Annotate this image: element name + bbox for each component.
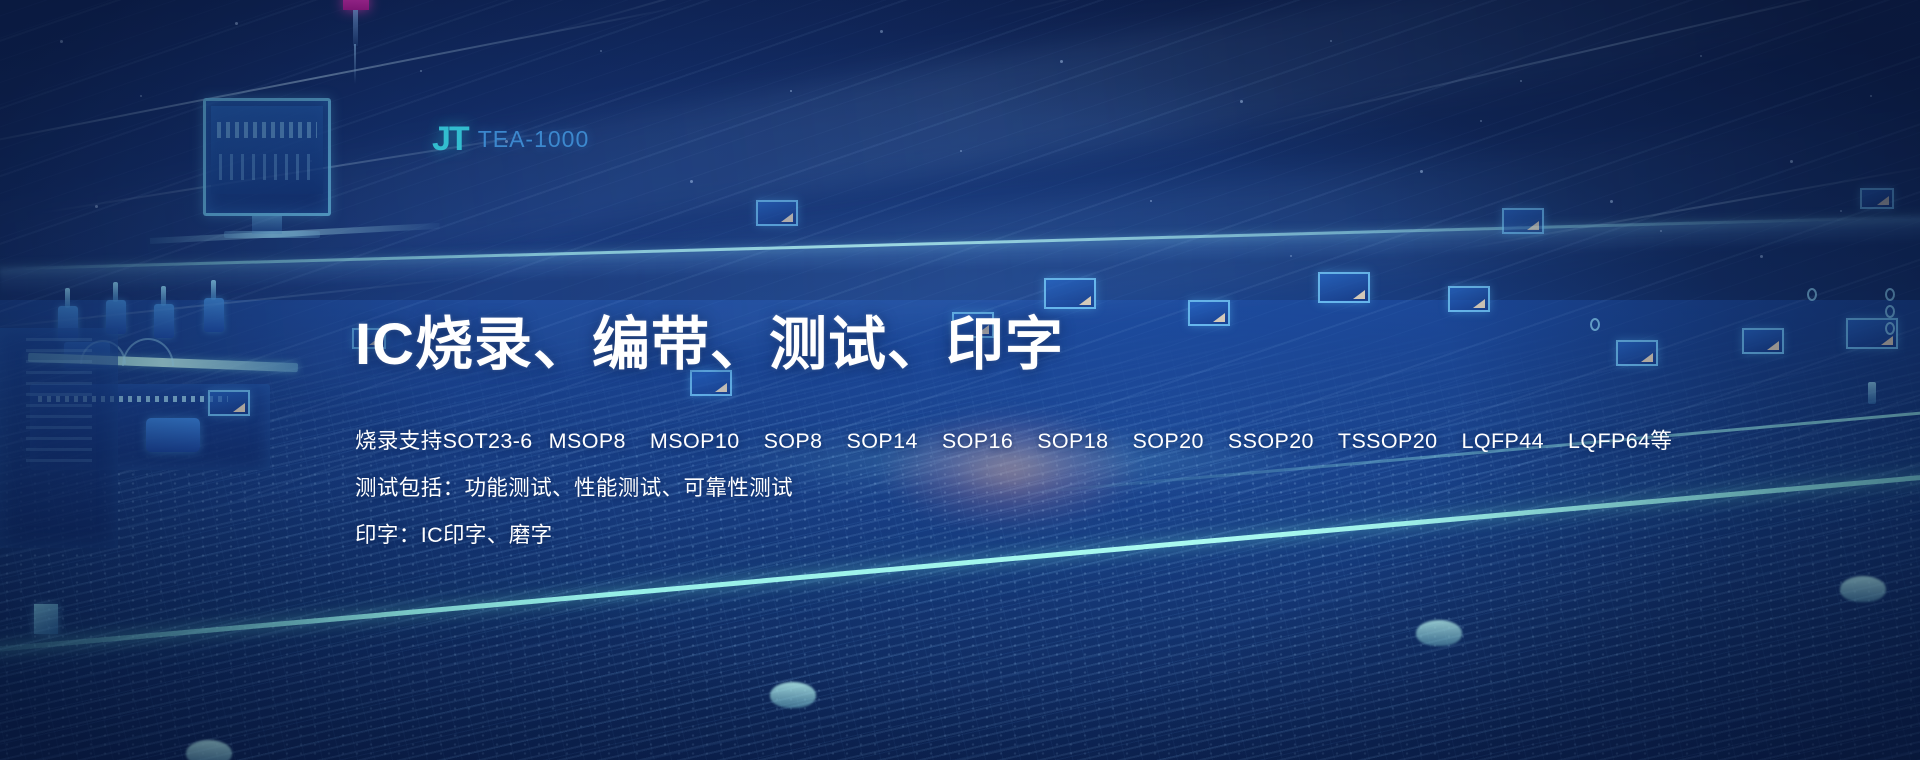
burn-support-line: 烧录支持SOT23-6MSOP8MSOP10SOP8SOP14SOP16SOP1… (355, 418, 1655, 465)
burn-support-label: 烧录支持SOT23-6 (355, 429, 533, 453)
package-name: SOP16 (942, 429, 1013, 453)
package-name: SOP18 (1037, 429, 1108, 453)
service-detail-list: 烧录支持SOT23-6MSOP8MSOP10SOP8SOP14SOP16SOP1… (355, 418, 1655, 559)
package-name: MSOP10 (650, 429, 740, 453)
package-name: SOP8 (764, 429, 823, 453)
banner-text-block: IC烧录、编带、测试、印字 烧录支持SOT23-6MSOP8MSOP10SOP8… (355, 312, 1655, 559)
package-name: LQFP44 (1462, 429, 1544, 453)
package-name: SOP14 (847, 429, 918, 453)
package-name: LQFP64等 (1568, 429, 1672, 453)
package-name: TSSOP20 (1338, 429, 1438, 453)
marking-service-line: 印字：IC印字、磨字 (355, 512, 1655, 559)
page-title: IC烧录、编带、测试、印字 (355, 312, 1655, 378)
package-name: MSOP8 (549, 429, 626, 453)
test-scope-line: 测试包括：功能测试、性能测试、可靠性测试 (355, 465, 1655, 512)
package-list: MSOP8MSOP10SOP8SOP14SOP16SOP18SOP20SSOP2… (549, 429, 1673, 453)
package-name: SSOP20 (1228, 429, 1314, 453)
ic-service-banner: JT TEA-1000 IC烧录、编带、测试、印字 烧录支持SOT23-6MSO… (0, 0, 1920, 760)
package-name: SOP20 (1133, 429, 1204, 453)
